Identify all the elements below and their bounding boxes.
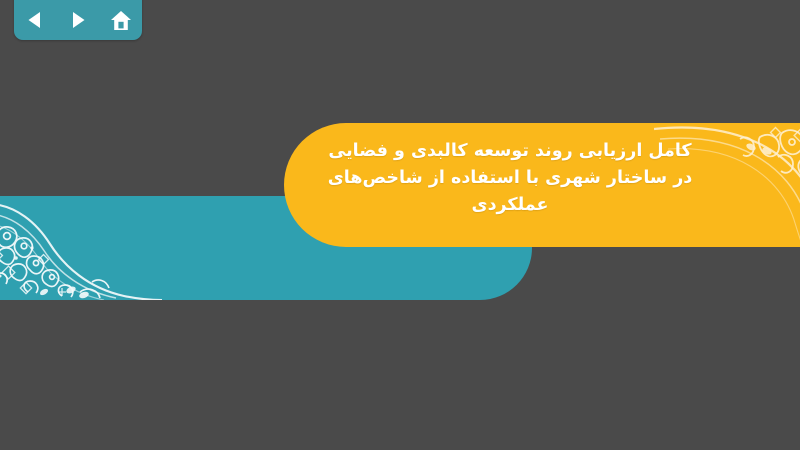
arabesque-ornament-orange — [654, 123, 800, 247]
previous-slide-button[interactable] — [20, 7, 50, 33]
home-icon — [110, 10, 132, 31]
slide-navigation-toolbar — [14, 0, 142, 40]
next-slide-button[interactable] — [63, 7, 93, 33]
triangle-left-icon — [25, 10, 45, 30]
triangle-right-icon — [68, 10, 88, 30]
home-button[interactable] — [106, 7, 136, 33]
orange-title-band — [284, 123, 800, 247]
arabesque-ornament-teal — [0, 196, 162, 300]
presentation-slide: کامل ارزیابی روند توسعه کالبدی و فضایی د… — [0, 0, 800, 450]
